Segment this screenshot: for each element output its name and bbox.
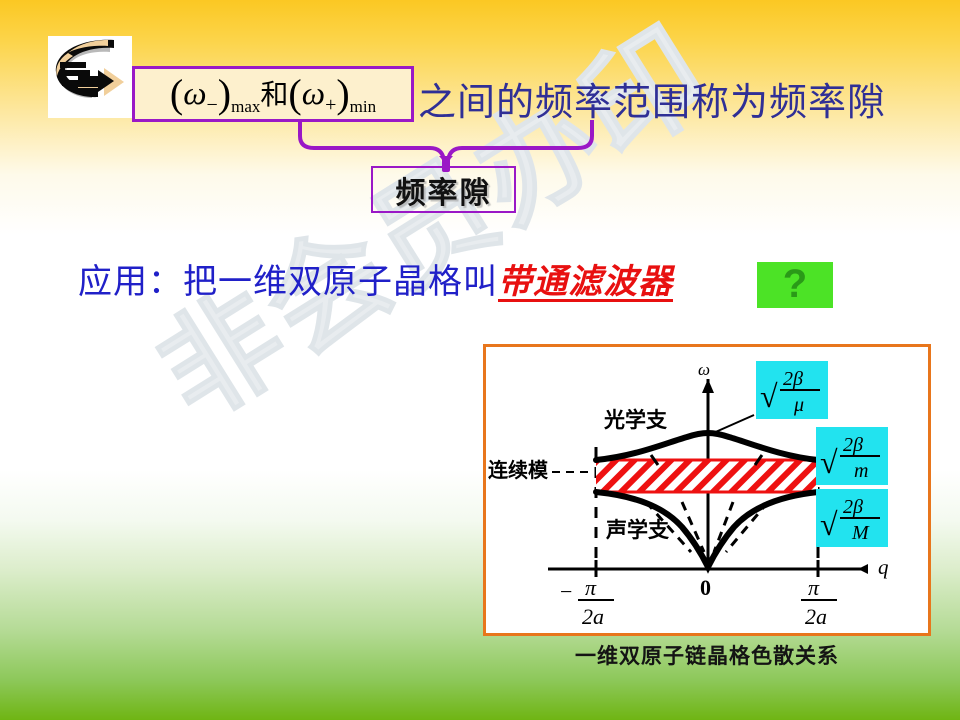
- close-paren-2: ): [336, 71, 349, 116]
- close-paren-1: ): [218, 71, 231, 116]
- max-subscript: max: [231, 97, 260, 116]
- formula-sqrt-2beta-mu: √ 2β μ: [756, 361, 828, 419]
- x-axis-label: q: [878, 555, 889, 579]
- band-gap-region: [596, 460, 818, 492]
- frequency-gap-label: 频率隙: [396, 168, 492, 212]
- omega-symbol-1: ω: [183, 76, 206, 112]
- formula-sqrt-2beta-M: √ 2β M: [816, 489, 888, 547]
- omega-range-formula-box: (ω−)max和(ω+)min: [132, 66, 414, 122]
- omega-range-formula: (ω−)max和(ω+)min: [170, 74, 376, 115]
- acoustic-branch-label: 声学支: [605, 518, 670, 542]
- frequency-gap-label-box: 频率隙: [371, 166, 516, 213]
- radical-sign-3: √: [820, 506, 838, 542]
- omega-minus-subscript: −: [207, 94, 218, 116]
- figure-caption: 一维双原子链晶格色散关系: [483, 640, 931, 670]
- x-tick-left-sign: −: [560, 579, 572, 604]
- x-tick-right: π 2a: [801, 575, 837, 629]
- omega-plus-subscript: +: [325, 94, 336, 116]
- x-tick-right-denom: 2a: [805, 604, 827, 629]
- origin-label: 0: [700, 575, 711, 600]
- min-subscript: min: [350, 97, 376, 116]
- formula-sqrt-2beta-m: √ 2β m: [816, 427, 888, 485]
- x-tick-right-numer: π: [808, 575, 820, 600]
- x-tick-left-denom: 2a: [582, 604, 604, 629]
- open-paren-2: (: [288, 71, 301, 116]
- denominator-1: μ: [793, 394, 804, 416]
- numerator-2: 2β: [843, 434, 863, 456]
- question-badge[interactable]: ?: [757, 262, 833, 308]
- denominator-2: m: [854, 460, 868, 482]
- numerator-3: 2β: [843, 496, 863, 518]
- application-highlight: 带通滤波器: [498, 262, 673, 302]
- dispersion-figure: q ω 光学支 声学支: [483, 344, 931, 636]
- denominator-3: M: [851, 522, 870, 544]
- application-line: 应用：把一维双原子晶格叫带通滤波器: [78, 265, 673, 299]
- slide-canvas: 非会员办印 (ω−)max和(ω+)min 之间的频率范围称为频率隙: [0, 0, 960, 720]
- radical-sign-1: √: [760, 378, 778, 414]
- open-paren-1: (: [170, 71, 183, 116]
- x-tick-left: − π 2a: [560, 575, 614, 629]
- omega-symbol-2: ω: [302, 76, 325, 112]
- y-axis-label: ω: [698, 360, 710, 379]
- question-mark-icon: ?: [783, 264, 807, 304]
- radical-sign-2: √: [820, 444, 838, 480]
- optical-branch-label: 光学支: [603, 408, 668, 432]
- numerator-1: 2β: [783, 368, 803, 390]
- headline-text: 之间的频率范围称为频率隙: [418, 71, 886, 126]
- swoosh-arrow-logo-icon: [48, 36, 132, 118]
- application-prefix: 应用：把一维双原子晶格叫: [78, 262, 498, 302]
- x-tick-left-numer: π: [585, 575, 597, 600]
- continuous-modes-label: 连续模: [488, 458, 549, 482]
- conjunction-he: 和: [260, 78, 288, 111]
